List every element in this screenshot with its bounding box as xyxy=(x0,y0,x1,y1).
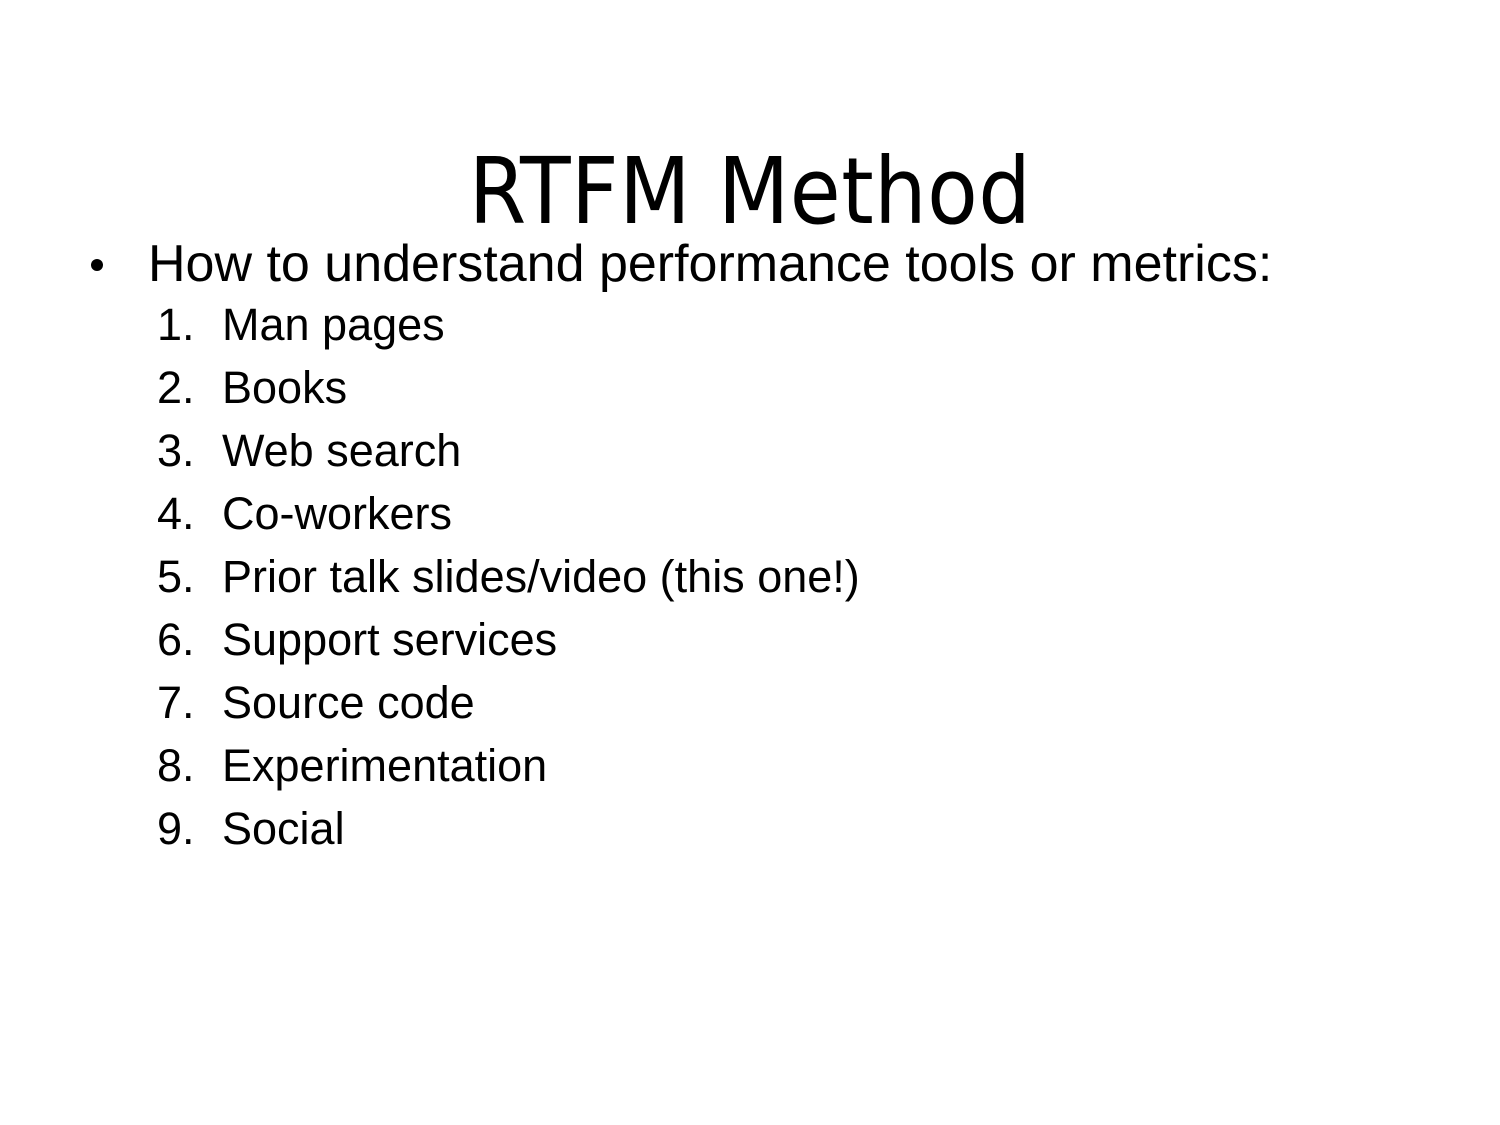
list-item: 6. Support services xyxy=(0,615,1500,678)
list-item-number: 6. xyxy=(157,615,213,665)
slide-body: How to understand performance tools or m… xyxy=(0,236,1500,867)
list-item-number: 3. xyxy=(157,426,213,476)
list-item-number: 9. xyxy=(157,804,213,854)
list-item: 9. Social xyxy=(0,804,1500,867)
list-item-label: Prior talk slides/video (this one!) xyxy=(222,552,860,602)
slide: RTFM Method How to understand performanc… xyxy=(0,0,1500,1125)
list-item: 2. Books xyxy=(0,363,1500,426)
list-item: 7. Source code xyxy=(0,678,1500,741)
list-item-number: 8. xyxy=(157,741,213,791)
page-title: RTFM Method xyxy=(0,140,1500,244)
numbered-list: 1. Man pages 2. Books 3. Web search 4. C… xyxy=(0,300,1500,867)
list-item: 4. Co-workers xyxy=(0,489,1500,552)
list-item: 3. Web search xyxy=(0,426,1500,489)
list-item: 1. Man pages xyxy=(0,300,1500,363)
list-item-number: 7. xyxy=(157,678,213,728)
list-item-number: 1. xyxy=(157,300,213,350)
list-item: 5. Prior talk slides/video (this one!) xyxy=(0,552,1500,615)
list-item: 8. Experimentation xyxy=(0,741,1500,804)
list-item-label: Experimentation xyxy=(222,741,547,791)
bullet-item-label: How to understand performance tools or m… xyxy=(148,236,1272,292)
list-item-label: Web search xyxy=(222,426,461,476)
list-item-number: 2. xyxy=(157,363,213,413)
list-item-label: Books xyxy=(222,363,347,413)
list-item-label: Co-workers xyxy=(222,489,452,539)
list-item-label: Social xyxy=(222,804,345,854)
list-item-label: Source code xyxy=(222,678,475,728)
bullet-dot-icon xyxy=(91,259,103,271)
list-item-label: Support services xyxy=(222,615,557,665)
list-item-number: 4. xyxy=(157,489,213,539)
bullet-item: How to understand performance tools or m… xyxy=(0,236,1500,300)
list-item-number: 5. xyxy=(157,552,213,602)
list-item-label: Man pages xyxy=(222,300,445,350)
